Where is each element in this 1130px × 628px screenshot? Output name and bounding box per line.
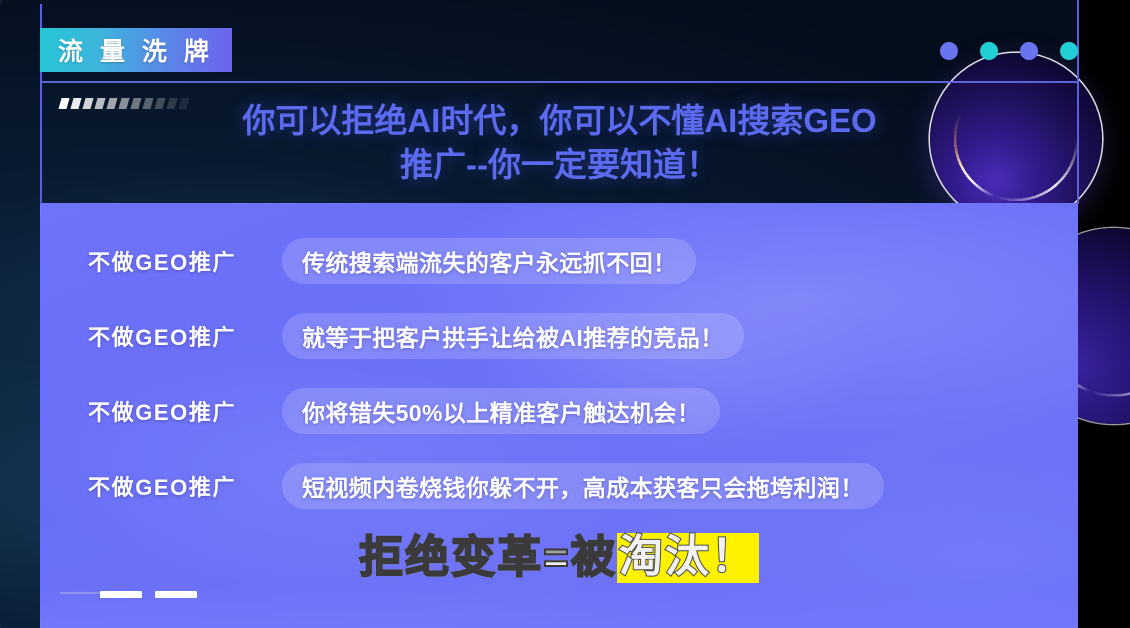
list-item: 不做GEO推广 你将错失50%以上精准客户触达机会！ (40, 373, 1078, 448)
bottom-dash-2 (155, 591, 197, 598)
dot-4 (1060, 42, 1078, 60)
dash-1 (58, 98, 69, 109)
dot-row (940, 42, 1078, 60)
dash-10 (166, 98, 177, 109)
row-pill: 传统搜索端流失的客户永远抓不回！ (282, 238, 696, 284)
title-line-2: 推广--你一定要知道！ (400, 143, 719, 187)
statement-list: 不做GEO推广 传统搜索端流失的客户永远抓不回！ 不做GEO推广 就等于把客户拱… (40, 223, 1078, 523)
row-text: 传统搜索端流失的客户永远抓不回！ (302, 244, 676, 278)
dash-8 (142, 98, 153, 109)
dot-1 (940, 42, 958, 60)
slogan-normal-text: 拒绝变革=被 (359, 536, 617, 580)
poster-title: 你可以拒绝AI时代，你可以不懂AI搜索GEO 推广--你一定要知道！ (42, 83, 1077, 203)
row-text: 你将错失50%以上精准客户触达机会！ (302, 394, 700, 428)
guide-line-title-top (40, 81, 1078, 83)
slogan-highlight-text: 淘汰！ (617, 533, 759, 583)
bottom-dash-1 (100, 591, 142, 598)
row-label: 不做GEO推广 (88, 395, 276, 427)
headline-badge-label: 流 量 洗 牌 (58, 32, 214, 68)
row-label: 不做GEO推广 (88, 245, 276, 277)
dash-9 (154, 98, 165, 109)
dot-2 (980, 42, 998, 60)
row-pill: 就等于把客户拱手让给被AI推荐的竞品！ (282, 313, 744, 359)
row-label: 不做GEO推广 (88, 470, 276, 502)
list-item: 不做GEO推广 传统搜索端流失的客户永远抓不回！ (40, 223, 1078, 298)
poster-stage: 流 量 洗 牌 你可以拒绝AI时代，你可以不懂AI搜索GEO 推广--你一定要知… (0, 0, 1130, 628)
row-text: 就等于把客户拱手让给被AI推荐的竞品！ (302, 319, 724, 353)
bottom-slogan: 拒绝变革=被 淘汰！ (40, 533, 1078, 583)
dot-3 (1020, 42, 1038, 60)
row-label: 不做GEO推广 (88, 320, 276, 352)
content-panel: 不做GEO推广 传统搜索端流失的客户永远抓不回！ 不做GEO推广 就等于把客户拱… (40, 203, 1078, 628)
guide-line-vertical-right (1077, 0, 1079, 204)
dash-4 (94, 98, 105, 109)
dash-3 (82, 98, 93, 109)
title-line-1: 你可以拒绝AI时代，你可以不懂AI搜索GEO (242, 99, 876, 143)
list-item: 不做GEO推广 短视频内卷烧钱你躲不开，高成本获客只会拖垮利润！ (40, 448, 1078, 523)
row-text: 短视频内卷烧钱你躲不开，高成本获客只会拖垮利润！ (302, 469, 864, 503)
dash-2 (70, 98, 81, 109)
bottom-slogan-inner: 拒绝变革=被 淘汰！ (359, 533, 759, 583)
dash-6 (118, 98, 129, 109)
dash-decoration (60, 98, 188, 109)
row-pill: 你将错失50%以上精准客户触达机会！ (282, 388, 720, 434)
row-pill: 短视频内卷烧钱你躲不开，高成本获客只会拖垮利润！ (282, 463, 884, 509)
dash-5 (106, 98, 117, 109)
dash-11 (178, 98, 189, 109)
list-item: 不做GEO推广 就等于把客户拱手让给被AI推荐的竞品！ (40, 298, 1078, 373)
headline-badge: 流 量 洗 牌 (40, 28, 232, 72)
dash-7 (130, 98, 141, 109)
